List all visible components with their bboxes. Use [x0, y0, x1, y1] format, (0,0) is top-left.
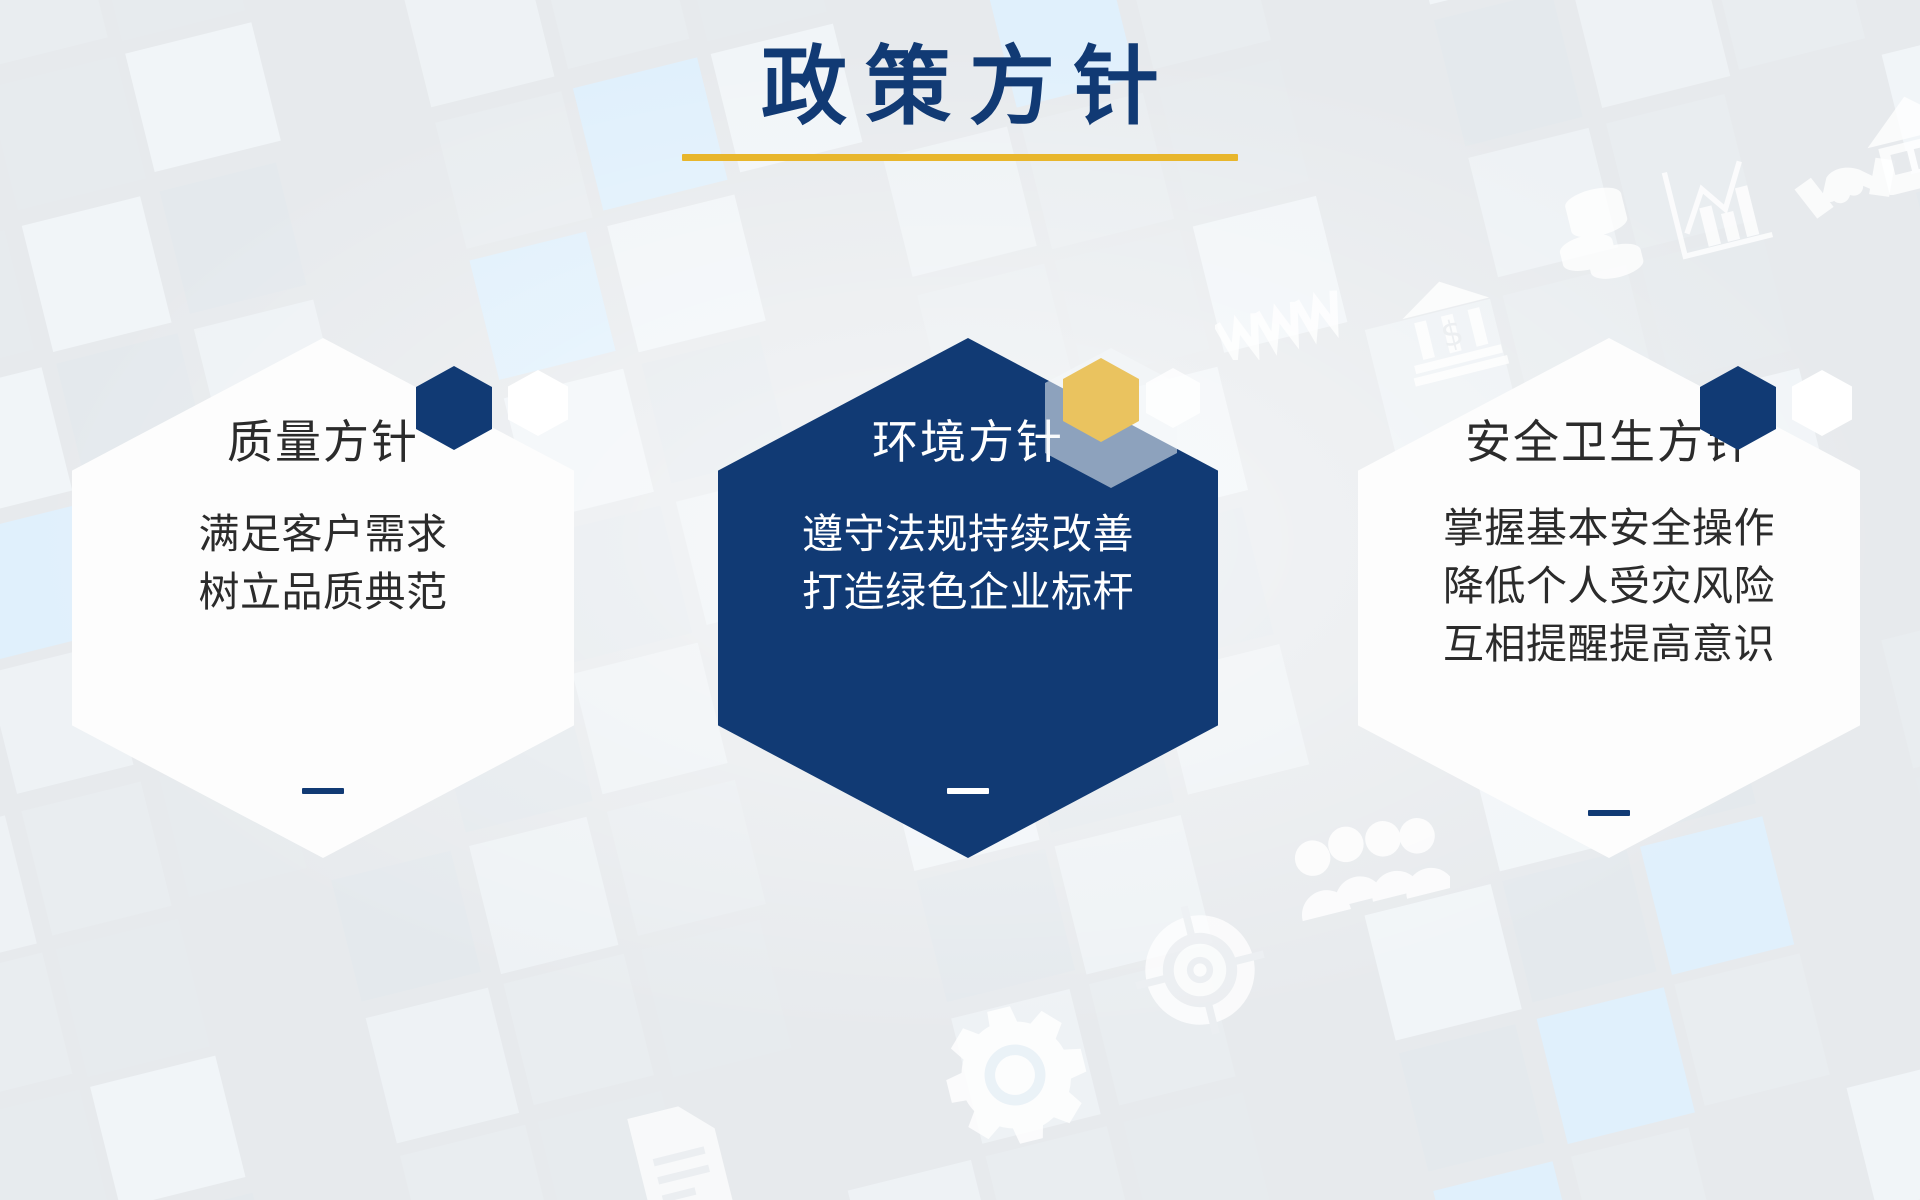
card-content: 安全卫生方针 掌握基本安全操作 降低个人受灾风险 互相提醒提高意识: [1358, 416, 1860, 674]
policy-card-quality[interactable]: 质量方针 满足客户需求 树立品质典范: [72, 338, 574, 858]
card-body-line-2: 打造绿色企业标杆: [718, 563, 1218, 621]
card-body-line-2: 树立品质典范: [72, 563, 574, 621]
card-title: 安全卫生方针: [1358, 416, 1860, 469]
policy-card-safety-health[interactable]: 安全卫生方针 掌握基本安全操作 降低个人受灾风险 互相提醒提高意识: [1358, 338, 1860, 858]
card-divider-dash: [1588, 810, 1630, 816]
card-body-line-1: 遵守法规持续改善: [718, 505, 1218, 563]
card-body-line-3: 互相提醒提高意识: [1358, 615, 1860, 673]
card-divider-dash: [947, 788, 989, 794]
card-body-line-1: 满足客户需求: [72, 505, 574, 563]
card-content: 质量方针 满足客户需求 树立品质典范: [72, 416, 574, 621]
card-body-line-1: 掌握基本安全操作: [1358, 499, 1860, 557]
card-body-line-2: 降低个人受灾风险: [1358, 557, 1860, 615]
title-block: 政策方针: [0, 42, 1920, 161]
title-underline: [682, 154, 1238, 161]
card-divider-dash: [302, 788, 344, 794]
card-title: 质量方针: [72, 416, 574, 469]
page-title: 政策方针: [0, 42, 1920, 132]
